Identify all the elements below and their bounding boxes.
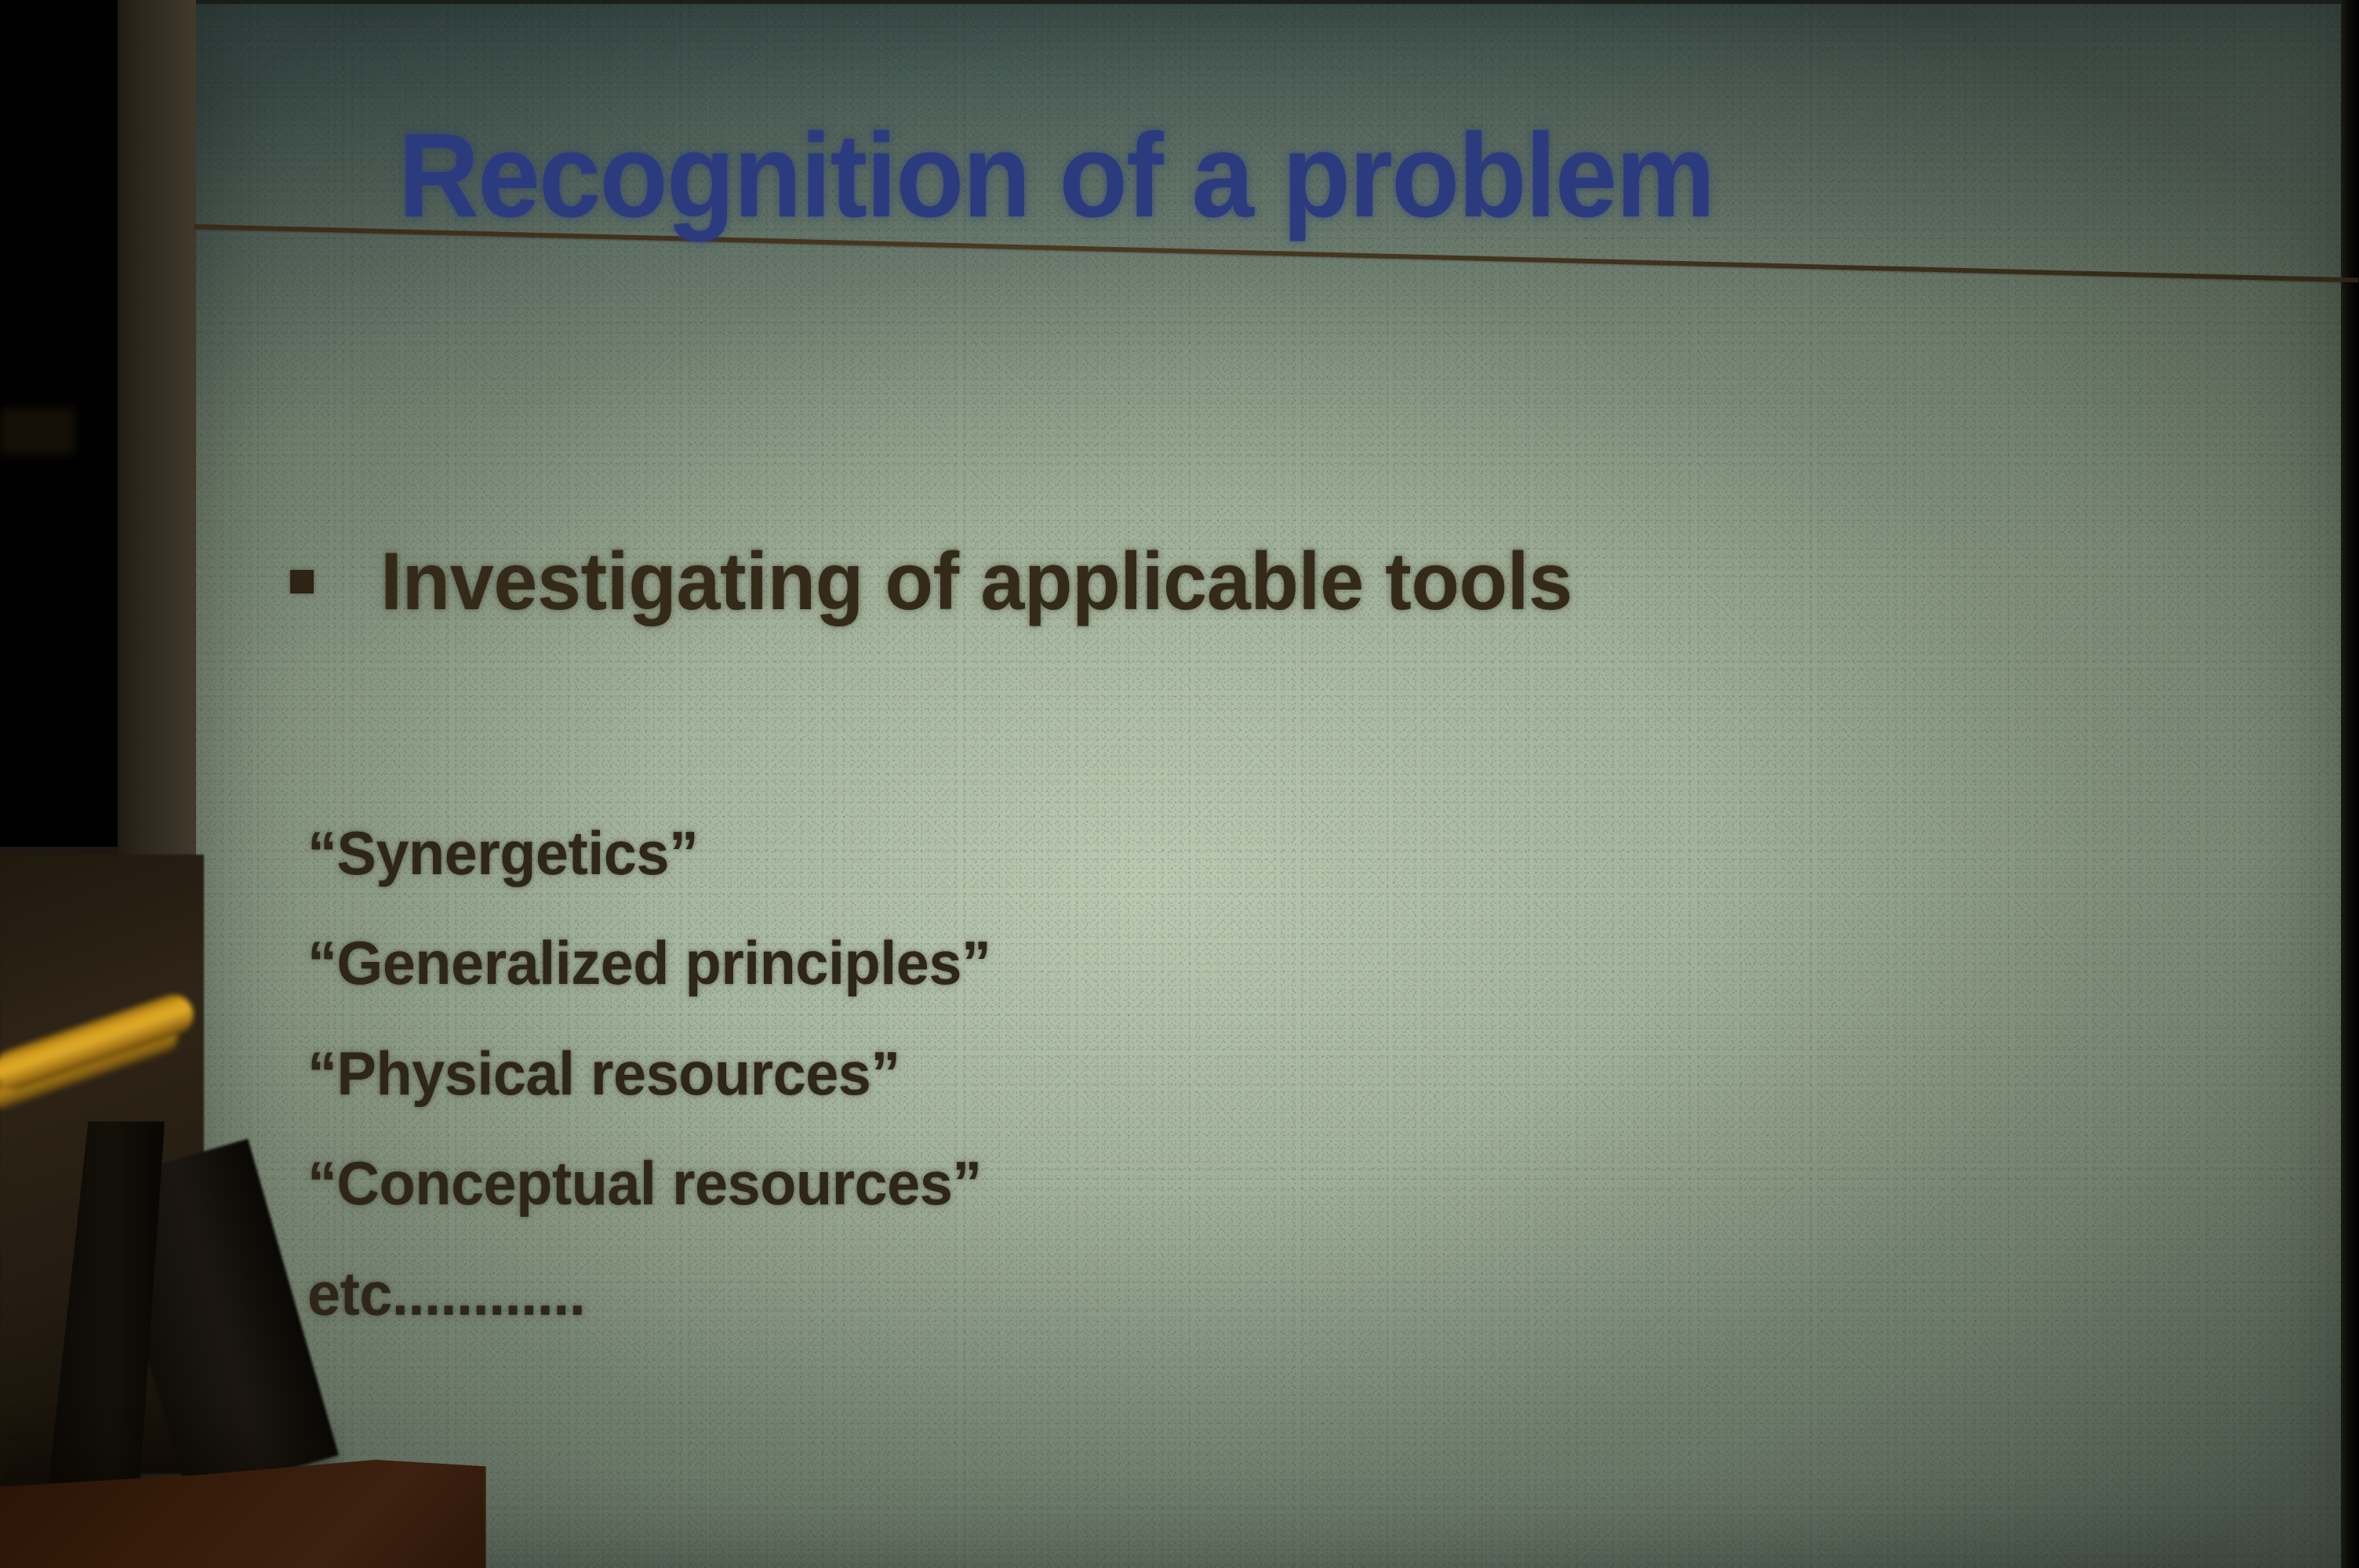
slide-content: Recognition of a problem Investigating o… — [196, 0, 2359, 1568]
list-item: “Synergetics” — [307, 798, 990, 908]
list-item: “Physical resources” — [307, 1018, 990, 1128]
list-item: etc............ — [307, 1239, 990, 1348]
bullet-item-label: Investigating of applicable tools — [380, 541, 1572, 622]
dim-wall-detail — [0, 408, 75, 455]
slide-title: Recognition of a problem — [398, 116, 1714, 235]
quoted-term-list: “Synergetics” “Generalized principles” “… — [307, 798, 1012, 1348]
square-bullet-icon — [290, 570, 314, 593]
list-item: “Conceptual resources” — [307, 1128, 990, 1238]
bullet-item: Investigating of applicable tools — [290, 541, 1609, 622]
photo-stage: Recognition of a problem Investigating o… — [0, 0, 2359, 1568]
list-item: “Generalized principles” — [307, 908, 990, 1018]
